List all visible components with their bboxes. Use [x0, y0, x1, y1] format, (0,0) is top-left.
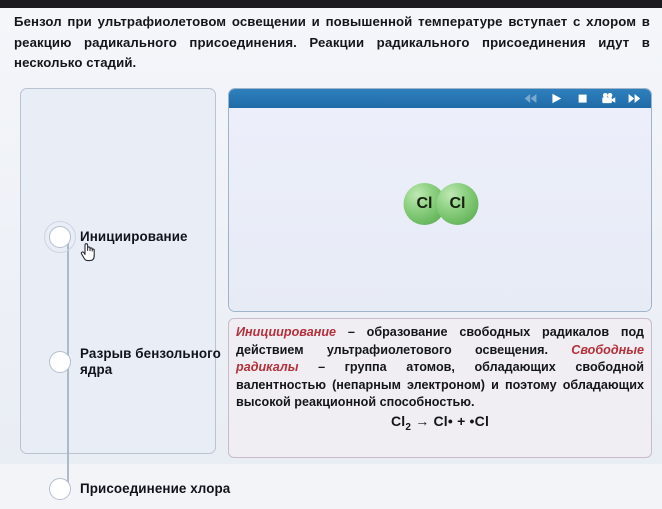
step-item-initiation[interactable]: Инициирование — [49, 217, 237, 257]
fast-forward-icon[interactable] — [627, 92, 642, 105]
top-edge-strip — [0, 0, 662, 8]
movie-camera-icon[interactable] — [601, 92, 616, 105]
intro-paragraph: Бензол при ультрафиолетовом освещении и … — [14, 12, 650, 74]
animation-panel: Cl Cl — [228, 88, 652, 312]
lesson-screen: Бензол при ультрафиолетовом освещении и … — [0, 0, 662, 464]
step-item-ring-cleavage[interactable]: Разрыв бензольного ядра — [49, 342, 237, 382]
stop-icon[interactable] — [575, 92, 590, 105]
play-icon[interactable] — [549, 92, 564, 105]
step-marker-icon — [49, 478, 71, 500]
animation-canvas: Cl Cl — [229, 108, 652, 312]
equation-rest: → Cl• + •Cl — [411, 413, 489, 429]
steps-panel: Инициирование Разрыв бензольного ядра Пр… — [20, 88, 216, 454]
equation-prefix: Cl — [391, 413, 405, 429]
rewind-icon[interactable] — [523, 92, 538, 105]
step-marker-icon — [49, 226, 71, 248]
term-initiation: Инициирование — [236, 325, 336, 339]
animation-toolbar — [229, 89, 652, 108]
chemical-equation: Cl2 → Cl• + •Cl — [236, 413, 644, 436]
atom-chlorine-right: Cl — [437, 183, 479, 225]
step-label: Инициирование — [80, 229, 188, 246]
step-label: Присоединение хлора — [80, 481, 230, 498]
chlorine-molecule: Cl Cl — [404, 183, 479, 225]
description-panel: Инициирование – образование свободных ра… — [228, 318, 652, 458]
description-text-2: – группа атомов, обладающих свободной ва… — [236, 360, 644, 409]
step-label: Разрыв бензольного ядра — [80, 346, 237, 379]
step-item-chlorine-addition[interactable]: Присоединение хлора — [49, 469, 237, 509]
step-marker-icon — [49, 351, 71, 373]
